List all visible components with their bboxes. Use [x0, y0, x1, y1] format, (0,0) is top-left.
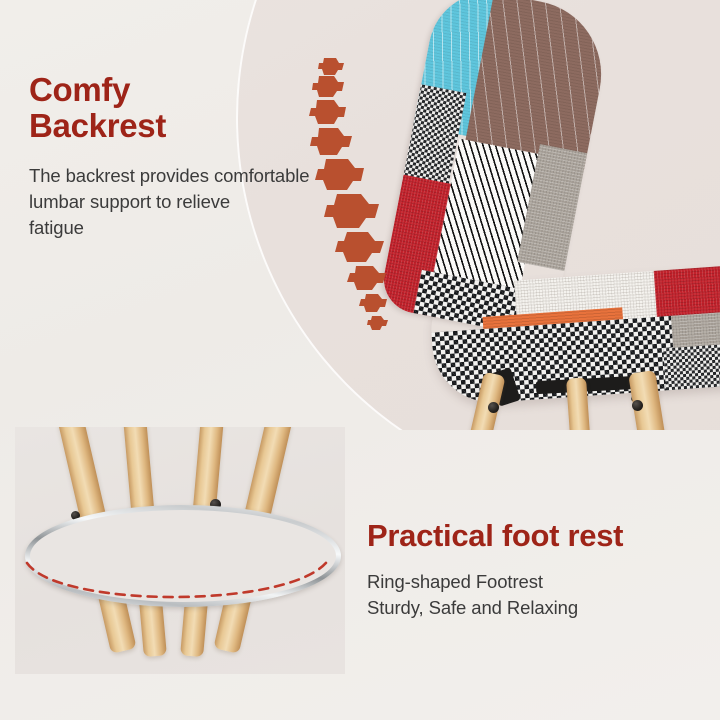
infographic-canvas: Comfy Backrest The backrest provides com… — [0, 0, 720, 720]
top-feature-section: Comfy Backrest The backrest provides com… — [0, 0, 720, 430]
bottom-feature-body: Ring-shaped Footrest Sturdy, Safe and Re… — [367, 569, 578, 621]
top-feature-body: The backrest provides comfortable lumbar… — [29, 163, 310, 241]
bottom-feature-section: Practical foot rest Ring-shaped Footrest… — [0, 430, 720, 720]
footrest-photo-panel — [15, 427, 345, 674]
spine-icon — [300, 48, 430, 338]
footrest-annotation-ellipse — [19, 545, 337, 625]
bottom-feature-headline: Practical foot rest — [367, 519, 623, 552]
leg-bolt — [488, 402, 499, 413]
leg-bolt — [632, 400, 643, 411]
top-feature-headline: Comfy Backrest — [29, 72, 166, 143]
